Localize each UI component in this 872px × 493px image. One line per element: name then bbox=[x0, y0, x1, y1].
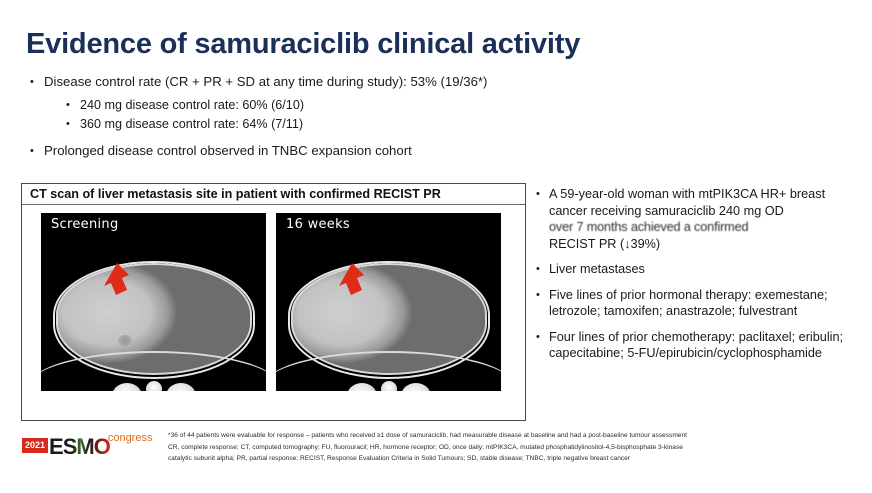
ct-scan-label: Screening bbox=[51, 217, 119, 232]
bullet-icon: • bbox=[30, 143, 44, 159]
list-item: • Liver metastases bbox=[536, 261, 866, 278]
footnote-line: CR, complete response; CT, computed tomo… bbox=[168, 442, 868, 454]
bullet-icon: • bbox=[536, 186, 549, 203]
logo-wordmark: ESMO bbox=[49, 434, 110, 460]
bullet-icon: • bbox=[536, 329, 549, 346]
key-findings-list: • Disease control rate (CR + PR + SD at … bbox=[30, 74, 560, 166]
case-chemotherapy: Four lines of prior chemotherapy: paclit… bbox=[549, 329, 866, 362]
case-description-list: • A 59-year-old woman with mtPIK3CA HR+ … bbox=[536, 186, 866, 371]
ct-scan-label: 16 weeks bbox=[286, 217, 350, 232]
bullet-icon: • bbox=[30, 74, 44, 90]
case-line: A 59-year-old woman with mtPIK3CA HR+ bbox=[549, 187, 786, 201]
footnote-line: *36 of 44 patients were evaluable for re… bbox=[168, 430, 868, 442]
list-item: • Five lines of prior hormonal therapy: … bbox=[536, 287, 866, 320]
list-item-label: Prolonged disease control observed in TN… bbox=[44, 143, 560, 159]
case-line: fulvestrant bbox=[739, 304, 798, 318]
case-line: Five lines of prior hormonal therapy: bbox=[549, 288, 751, 302]
case-line-obscured: over 7 months achieved a confirmed bbox=[549, 219, 866, 236]
logo-congress-label: congress bbox=[108, 432, 153, 444]
case-line: RECIST PR (↓39%) bbox=[549, 237, 660, 251]
ct-scan-screening: Screening bbox=[41, 213, 266, 391]
ct-image-row: Screening 16 weeks bbox=[22, 205, 525, 391]
list-item: • Prolonged disease control observed in … bbox=[30, 143, 560, 159]
bullet-icon: • bbox=[66, 97, 80, 113]
bullet-icon: • bbox=[66, 116, 80, 132]
case-line: 5-FU/epirubicin/cyclophosphamide bbox=[627, 346, 822, 360]
case-liver-metastases: Liver metastases bbox=[549, 261, 866, 278]
case-patient-summary: A 59-year-old woman with mtPIK3CA HR+ br… bbox=[549, 186, 866, 252]
bullet-icon: • bbox=[536, 287, 549, 304]
esmo-congress-logo: 2021 ESMO congress bbox=[22, 432, 152, 458]
list-item: • Four lines of prior chemotherapy: pacl… bbox=[536, 329, 866, 362]
slide-footer: 2021 ESMO congress *36 of 44 patients we… bbox=[0, 424, 872, 493]
logo-year: 2021 bbox=[22, 438, 48, 453]
ct-scan-16-weeks: 16 weeks bbox=[276, 213, 501, 391]
list-item-label: 240 mg disease control rate: 60% (6/10) bbox=[80, 97, 560, 113]
list-item: • 240 mg disease control rate: 60% (6/10… bbox=[30, 97, 560, 113]
footnote-line: catalytic subunit alpha; PR, partial res… bbox=[168, 453, 868, 465]
ct-liver-lesion bbox=[118, 335, 132, 346]
bullet-icon: • bbox=[536, 261, 549, 278]
case-line: Four lines of prior chemotherapy: paclit… bbox=[549, 330, 795, 344]
case-hormonal-therapy: Five lines of prior hormonal therapy: ex… bbox=[549, 287, 866, 320]
list-item: • Disease control rate (CR + PR + SD at … bbox=[30, 74, 560, 90]
red-arrow-icon bbox=[97, 261, 131, 307]
list-item: • 360 mg disease control rate: 64% (7/11… bbox=[30, 116, 560, 132]
footnotes: *36 of 44 patients were evaluable for re… bbox=[168, 430, 868, 465]
page-title: Evidence of samuraciclib clinical activi… bbox=[26, 28, 580, 61]
list-item: • A 59-year-old woman with mtPIK3CA HR+ … bbox=[536, 186, 866, 252]
list-item-label: 360 mg disease control rate: 64% (7/11) bbox=[80, 116, 560, 132]
ct-scan-panel: CT scan of liver metastasis site in pati… bbox=[21, 183, 526, 421]
red-arrow-icon bbox=[332, 261, 366, 307]
ct-panel-title: CT scan of liver metastasis site in pati… bbox=[22, 184, 525, 205]
list-item-label: Disease control rate (CR + PR + SD at an… bbox=[44, 74, 560, 90]
